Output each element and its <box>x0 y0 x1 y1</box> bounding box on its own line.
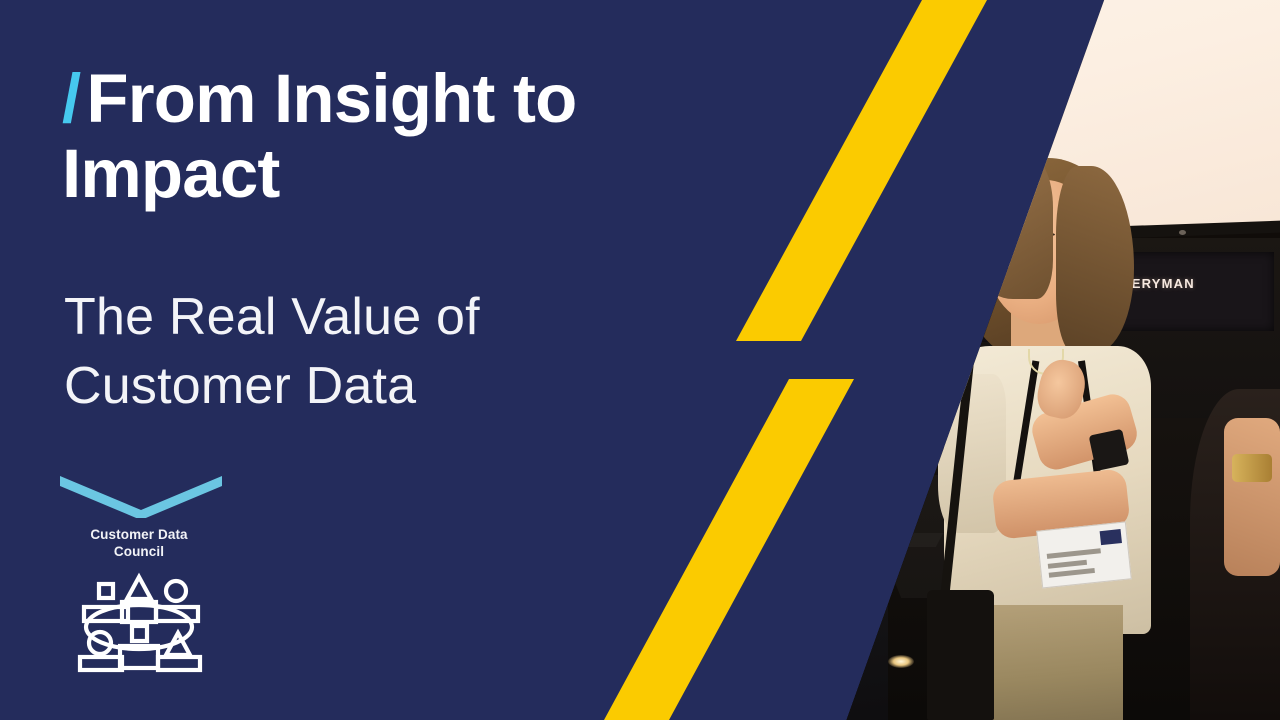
brand-logo: Customer DataCouncil <box>58 472 288 673</box>
slash-accent: / <box>62 60 80 137</box>
brand-name-line-2: Council <box>114 544 164 559</box>
name-badge <box>1036 521 1131 588</box>
badge-text-line <box>1047 548 1102 559</box>
person-left-ring <box>846 479 853 484</box>
cinema-screen <box>720 0 1280 245</box>
page-title: /From Insight toImpact <box>62 62 702 211</box>
brand-name-line-1: Customer Data <box>90 527 187 542</box>
text-content: /From Insight toImpact The Real Value of… <box>62 0 702 720</box>
brand-name: Customer DataCouncil <box>58 526 220 560</box>
roundtable-people-icon <box>72 569 206 673</box>
photo-inner: ERYMAN EVERYMAN <box>720 0 1280 720</box>
headline-line-2: Impact <box>62 135 280 212</box>
event-photo: ERYMAN EVERYMAN <box>720 0 1280 720</box>
badge-text-line <box>1048 560 1087 569</box>
badge-logo <box>1100 528 1122 545</box>
chair-leg <box>866 391 921 531</box>
person-right-trousers <box>978 605 1124 720</box>
screen-bolt <box>972 240 979 245</box>
chevron-down-icon <box>60 472 222 518</box>
page-subtitle: The Real Value ofCustomer Data <box>64 283 664 421</box>
person-right-hair-front <box>964 155 1054 299</box>
badge-text-line <box>1049 568 1095 578</box>
subtitle-line-2: Customer Data <box>64 357 416 415</box>
presentation-title-slide: ERYMAN EVERYMAN <box>0 0 1280 720</box>
screen-bolt <box>1179 230 1186 235</box>
person-far-right-arm <box>1224 418 1280 576</box>
subtitle-line-1: The Real Value of <box>64 288 480 346</box>
person-right-bag <box>927 590 994 720</box>
screen-bolt <box>866 246 873 251</box>
person-right-eye <box>1000 238 1010 241</box>
chair-armrest <box>754 364 872 375</box>
person-far-right-bangle <box>1232 454 1271 483</box>
glasses-lens <box>731 389 769 425</box>
headline-line-1: From Insight to <box>86 60 576 137</box>
